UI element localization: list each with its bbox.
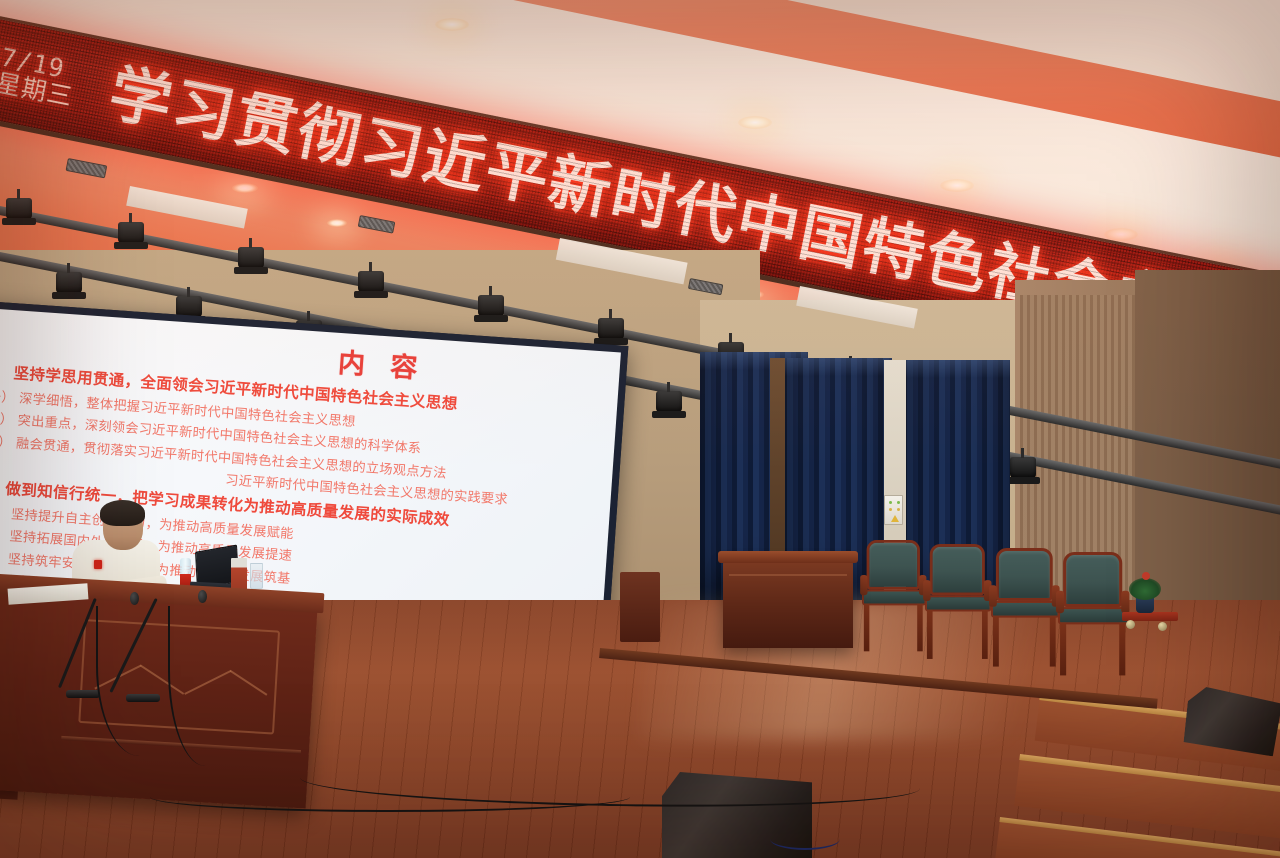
auditorium-photo: 3/07/19 :53星期三 学习贯彻习近平新时代中国特色社会主义思想主题教育专…	[0, 0, 1280, 858]
chair-backrest	[1063, 552, 1122, 607]
chair-backrest	[867, 540, 920, 590]
spotlight-yoke	[729, 333, 732, 343]
spotlight-yoke	[249, 238, 252, 248]
microphone-head	[130, 592, 139, 605]
panel-indicator-green	[897, 501, 900, 504]
speaker-cable	[770, 828, 840, 850]
chair-armrest-left	[923, 580, 931, 601]
plant-leaves	[1129, 578, 1161, 600]
led-clock-block: 3/07/19 :53星期三	[0, 34, 102, 116]
spotlight-yoke	[1021, 448, 1024, 458]
stage-spotlight	[238, 247, 264, 269]
side-table	[620, 572, 660, 642]
stage-spotlight	[118, 222, 144, 244]
tissue-box	[231, 558, 247, 590]
ceiling-downlight	[327, 219, 347, 227]
plant-flower	[1142, 572, 1150, 580]
spotlight-yoke	[187, 287, 190, 297]
chair-backrest	[996, 548, 1053, 601]
panel-indicator-green	[889, 501, 892, 504]
stage-spotlight	[6, 198, 32, 220]
stage-spotlight	[656, 391, 682, 413]
chair-armrest-left	[989, 585, 997, 607]
ceiling-downlight	[738, 116, 772, 129]
spotlight-yoke	[609, 309, 612, 319]
drinking-glass[interactable]	[250, 563, 263, 589]
lectern-seam	[729, 574, 847, 576]
chair-leg	[927, 610, 933, 659]
wall-electrical-panel[interactable]	[884, 495, 903, 525]
microphone-head	[198, 590, 207, 603]
ceiling-downlight	[232, 183, 258, 193]
spotlight-yoke	[17, 189, 20, 199]
chair-leg	[1050, 616, 1056, 667]
plant-stand-caster	[1158, 622, 1167, 631]
spotlight-yoke	[369, 262, 372, 272]
chair-leg	[993, 616, 999, 667]
lectern-top-surface	[718, 551, 858, 563]
curtain-highlight	[902, 360, 1010, 378]
chair-armrest-left	[860, 575, 867, 595]
spotlight-yoke	[67, 263, 70, 273]
ceiling-downlight	[435, 18, 469, 31]
ceiling-downlight	[940, 179, 974, 192]
chair-leg	[1119, 622, 1125, 675]
chair-backrest	[930, 544, 985, 595]
chair-leg	[864, 603, 870, 651]
spotlight-yoke	[129, 213, 132, 223]
stage-spotlight	[1010, 457, 1036, 479]
chair-leg	[917, 603, 923, 651]
plant-stand-caster	[1126, 620, 1135, 629]
stage-spotlight	[598, 318, 624, 340]
presenter-hair	[100, 500, 145, 526]
chair-leg	[1060, 622, 1066, 675]
chair-armrest-left	[1056, 591, 1064, 613]
stage-spotlight	[358, 271, 384, 293]
stage-spotlight	[478, 295, 504, 317]
party-emblem-badge	[94, 560, 102, 569]
floor-cable	[150, 782, 630, 812]
spotlight-yoke	[489, 286, 492, 296]
stage-lectern[interactable]	[723, 560, 853, 648]
chair-armrest-right	[1121, 591, 1129, 613]
microphone-base	[66, 690, 100, 698]
spotlight-yoke	[667, 382, 670, 392]
panel-warning-icon	[891, 515, 899, 522]
chair-leg	[982, 610, 988, 659]
curtain-highlight	[782, 358, 892, 376]
panel-indicator-amber	[889, 508, 892, 511]
stage-spotlight	[56, 272, 82, 294]
spotlight-yoke	[307, 311, 310, 321]
panel-indicator-amber	[897, 508, 900, 511]
